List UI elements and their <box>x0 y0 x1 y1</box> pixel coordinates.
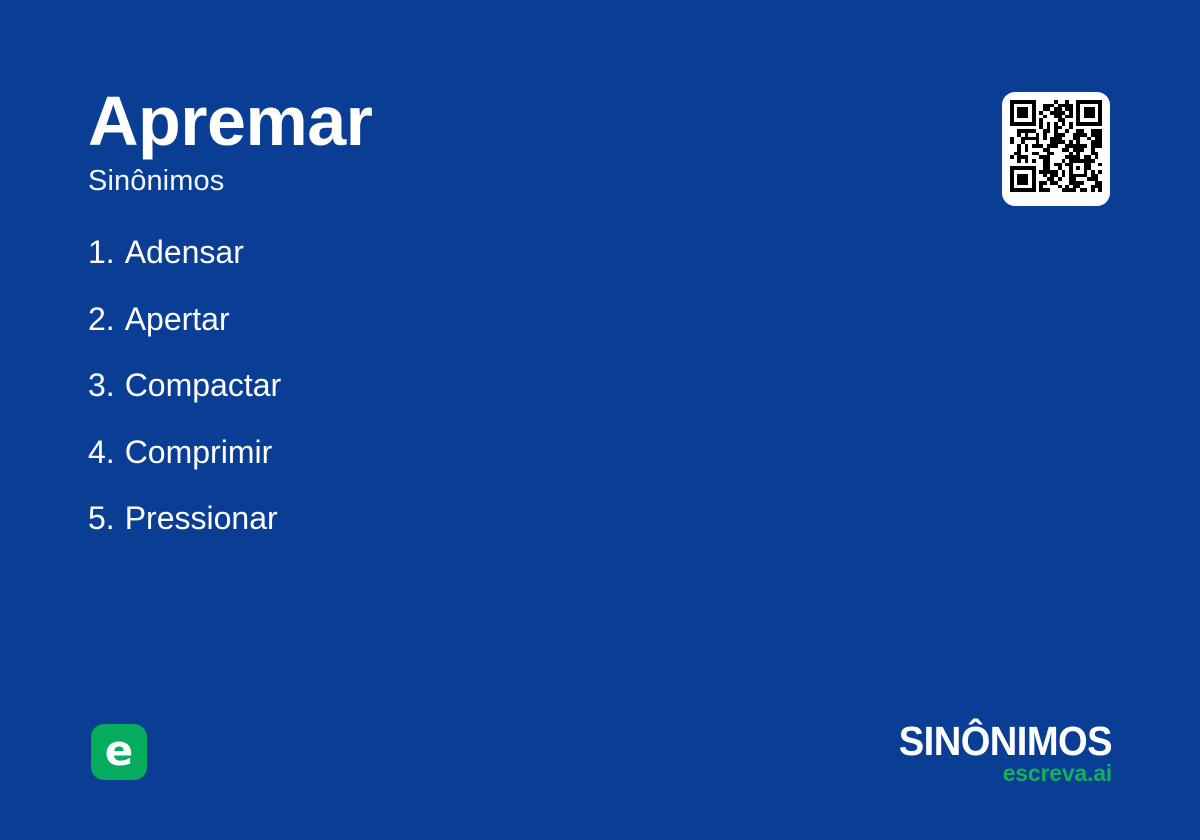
list-item: 5. Pressionar <box>88 502 848 569</box>
list-item-term: Comprimir <box>125 436 273 468</box>
list-item-term: Apertar <box>125 303 230 335</box>
list-item-term: Compactar <box>125 369 282 401</box>
list-item-term: Pressionar <box>125 502 278 534</box>
list-item-term: Adensar <box>125 236 244 268</box>
footer-logo[interactable]: SINÔNIMOS escreva.ai <box>852 722 1112 785</box>
page-title: Apremar <box>88 86 908 156</box>
list-item: 1. Adensar <box>88 236 848 303</box>
brand-badge-glyph: e <box>105 730 134 772</box>
footer-logo-sub: escreva.ai <box>852 762 1112 785</box>
list-item: 4. Comprimir <box>88 436 848 503</box>
section-label: Sinônimos <box>88 166 908 198</box>
synonyms-card: Apremar Sinônimos 1. Adensar 2. Apertar … <box>0 0 1200 840</box>
card-header: Apremar Sinônimos <box>88 86 908 198</box>
footer-logo-main: SINÔNIMOS <box>870 722 1112 761</box>
synonyms-list: 1. Adensar 2. Apertar 3. Compactar 4. Co… <box>88 236 848 569</box>
list-item-index: 3. <box>88 369 115 401</box>
list-item: 3. Compactar <box>88 369 848 436</box>
escreva-e-badge-icon[interactable]: e <box>91 724 147 780</box>
list-item-index: 2. <box>88 303 115 335</box>
list-item: 2. Apertar <box>88 303 848 370</box>
qr-code-icon[interactable] <box>1002 92 1110 206</box>
qr-code-matrix <box>1010 100 1102 192</box>
list-item-index: 4. <box>88 436 115 468</box>
list-item-index: 1. <box>88 236 115 268</box>
list-item-index: 5. <box>88 502 115 534</box>
